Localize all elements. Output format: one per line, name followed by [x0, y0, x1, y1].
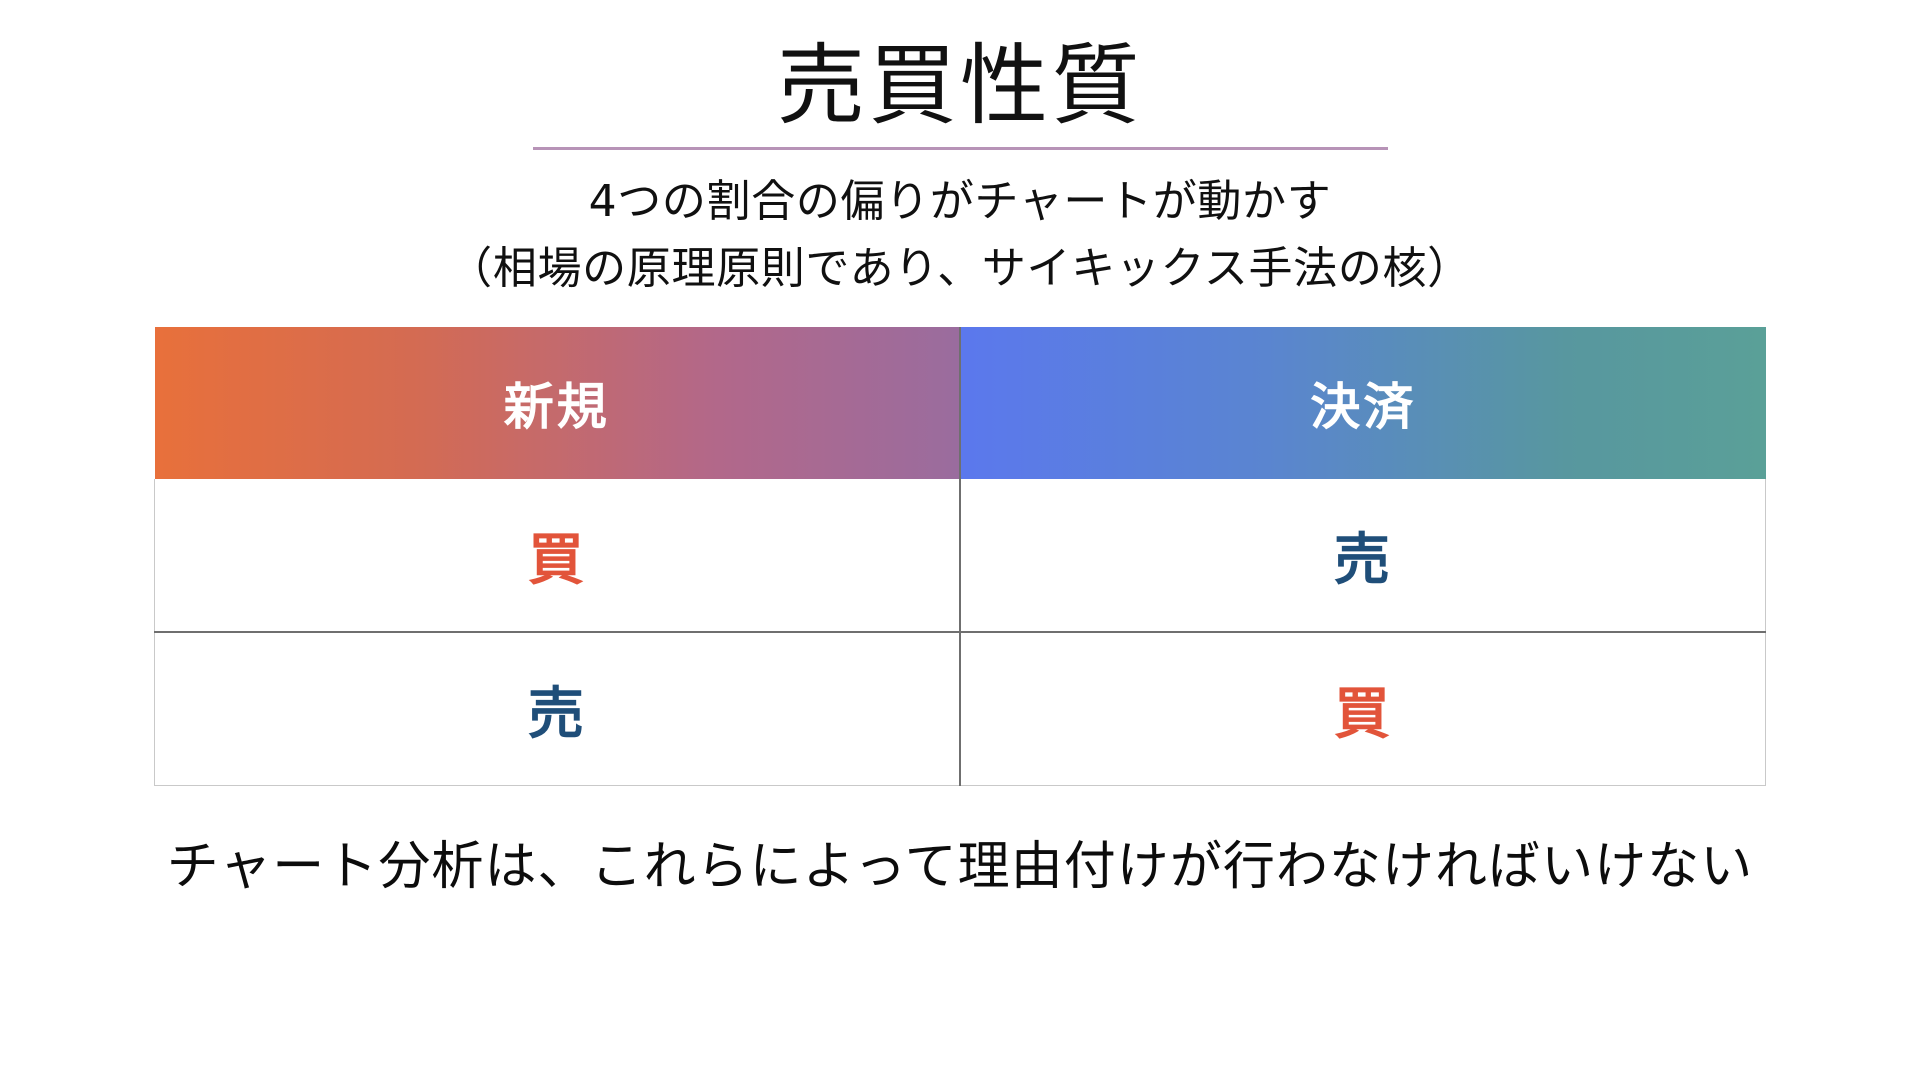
matrix-table-wrapper: 新規 決済 買 売 売 買 — [154, 327, 1766, 786]
title-divider — [533, 147, 1388, 150]
table-header-settle: 決済 — [960, 327, 1766, 479]
cell-new-buy: 買 — [155, 479, 961, 632]
title-block: 売買性質 — [0, 38, 1920, 150]
subtitle-line-2: （相場の原理原則であり、サイキックス手法の核） — [448, 239, 1472, 300]
table-header-row: 新規 決済 — [155, 327, 1766, 479]
slide-root: 売買性質 4つの割合の偏りがチャートが動かす （相場の原理原則であり、サイキック… — [0, 0, 1920, 1073]
table-row: 買 売 — [155, 479, 1766, 632]
page-title: 売買性質 — [777, 38, 1143, 133]
cell-settle-sell: 売 — [960, 479, 1766, 632]
subtitle-block: 4つの割合の偏りがチャートが動かす （相場の原理原則であり、サイキックス手法の核… — [448, 172, 1472, 299]
table-header-new: 新規 — [155, 327, 961, 479]
table-body: 買 売 売 買 — [155, 479, 1766, 785]
table-header: 新規 決済 — [155, 327, 1766, 479]
footer-note: チャート分析は、これらによって理由付けが行わなければいけない — [167, 834, 1754, 902]
cell-settle-buy: 買 — [960, 632, 1766, 785]
cell-new-sell: 売 — [155, 632, 961, 785]
table-row: 売 買 — [155, 632, 1766, 785]
subtitle-line-1: 4つの割合の偏りがチャートが動かす — [589, 172, 1332, 233]
trade-nature-table: 新規 決済 買 売 売 買 — [154, 327, 1766, 786]
